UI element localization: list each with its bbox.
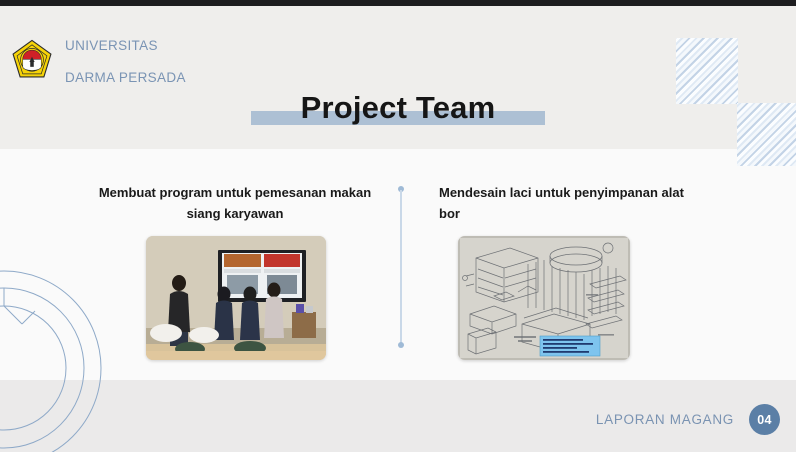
- page-title: Project Team: [301, 90, 496, 125]
- top-strip: [0, 0, 796, 6]
- slide-canvas: UNIVERSITAS DARMA PERSADA Project Team M…: [0, 0, 796, 452]
- drawer-design-sketch: [458, 236, 630, 360]
- brand-line-2: DARMA PERSADA: [65, 70, 186, 86]
- brand-line-1: UNIVERSITAS: [65, 38, 186, 54]
- column-divider: [398, 186, 404, 348]
- footer-label: LAPORAN MAGANG: [596, 412, 734, 427]
- page-title-wrap: Project Team: [0, 88, 796, 136]
- project-caption-left: Membuat program untuk pemesanan makan si…: [96, 182, 374, 224]
- project-caption-right: Mendesain laci untuk penyimpanan alat bo…: [423, 182, 701, 224]
- project-column-right: Mendesain laci untuk penyimpanan alat bo…: [412, 182, 712, 360]
- divider-line: [400, 190, 402, 344]
- divider-dot-bottom: [398, 342, 404, 348]
- project-column-left: Membuat program untuk pemesanan makan si…: [85, 182, 385, 360]
- team-presentation-photo: [146, 236, 326, 360]
- universitas-darma-persada-logo-icon: [10, 39, 54, 85]
- page-number-badge: 04: [749, 404, 780, 435]
- slide-footer: LAPORAN MAGANG 04: [596, 404, 780, 435]
